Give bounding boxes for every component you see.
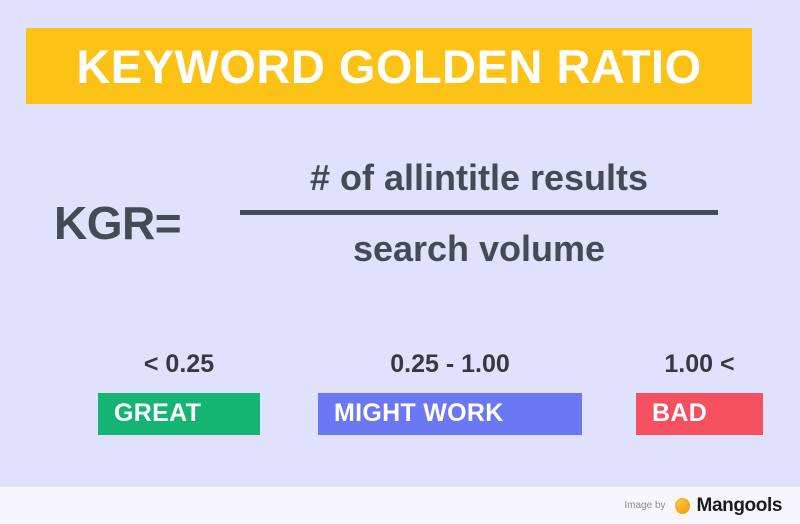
tier-great: < 0.25 GREAT	[98, 352, 260, 435]
tier-bad-range: 1.00 <	[664, 352, 734, 377]
tier-might-work-range: 0.25 - 1.00	[390, 352, 510, 377]
tier-bad-badge: BAD	[636, 393, 763, 435]
kgr-formula: KGR= # of allintitle results search volu…	[0, 160, 800, 310]
fraction-numerator: # of allintitle results	[240, 160, 718, 210]
tier-great-badge: GREAT	[98, 393, 260, 435]
fraction: # of allintitle results search volume	[240, 160, 718, 267]
footer-credit-label: Image by	[624, 501, 665, 511]
kgr-label: KGR=	[54, 200, 181, 246]
tier-great-range: < 0.25	[144, 352, 214, 377]
page-title: KEYWORD GOLDEN RATIO	[76, 43, 701, 90]
footer-attribution: Image by Mangools	[0, 487, 800, 524]
tier-bad: 1.00 < BAD	[636, 352, 763, 435]
mango-icon	[675, 498, 690, 514]
header-banner: KEYWORD GOLDEN RATIO	[26, 28, 752, 104]
tier-might-work-badge: MIGHT WORK	[318, 393, 582, 435]
fraction-denominator: search volume	[240, 215, 718, 267]
tier-might-work: 0.25 - 1.00 MIGHT WORK	[318, 352, 582, 435]
footer-brand-name: Mangools	[697, 496, 782, 515]
infographic-canvas: KEYWORD GOLDEN RATIO KGR= # of allintitl…	[0, 0, 800, 524]
threshold-tiers: < 0.25 GREAT 0.25 - 1.00 MIGHT WORK 1.00…	[30, 352, 742, 435]
